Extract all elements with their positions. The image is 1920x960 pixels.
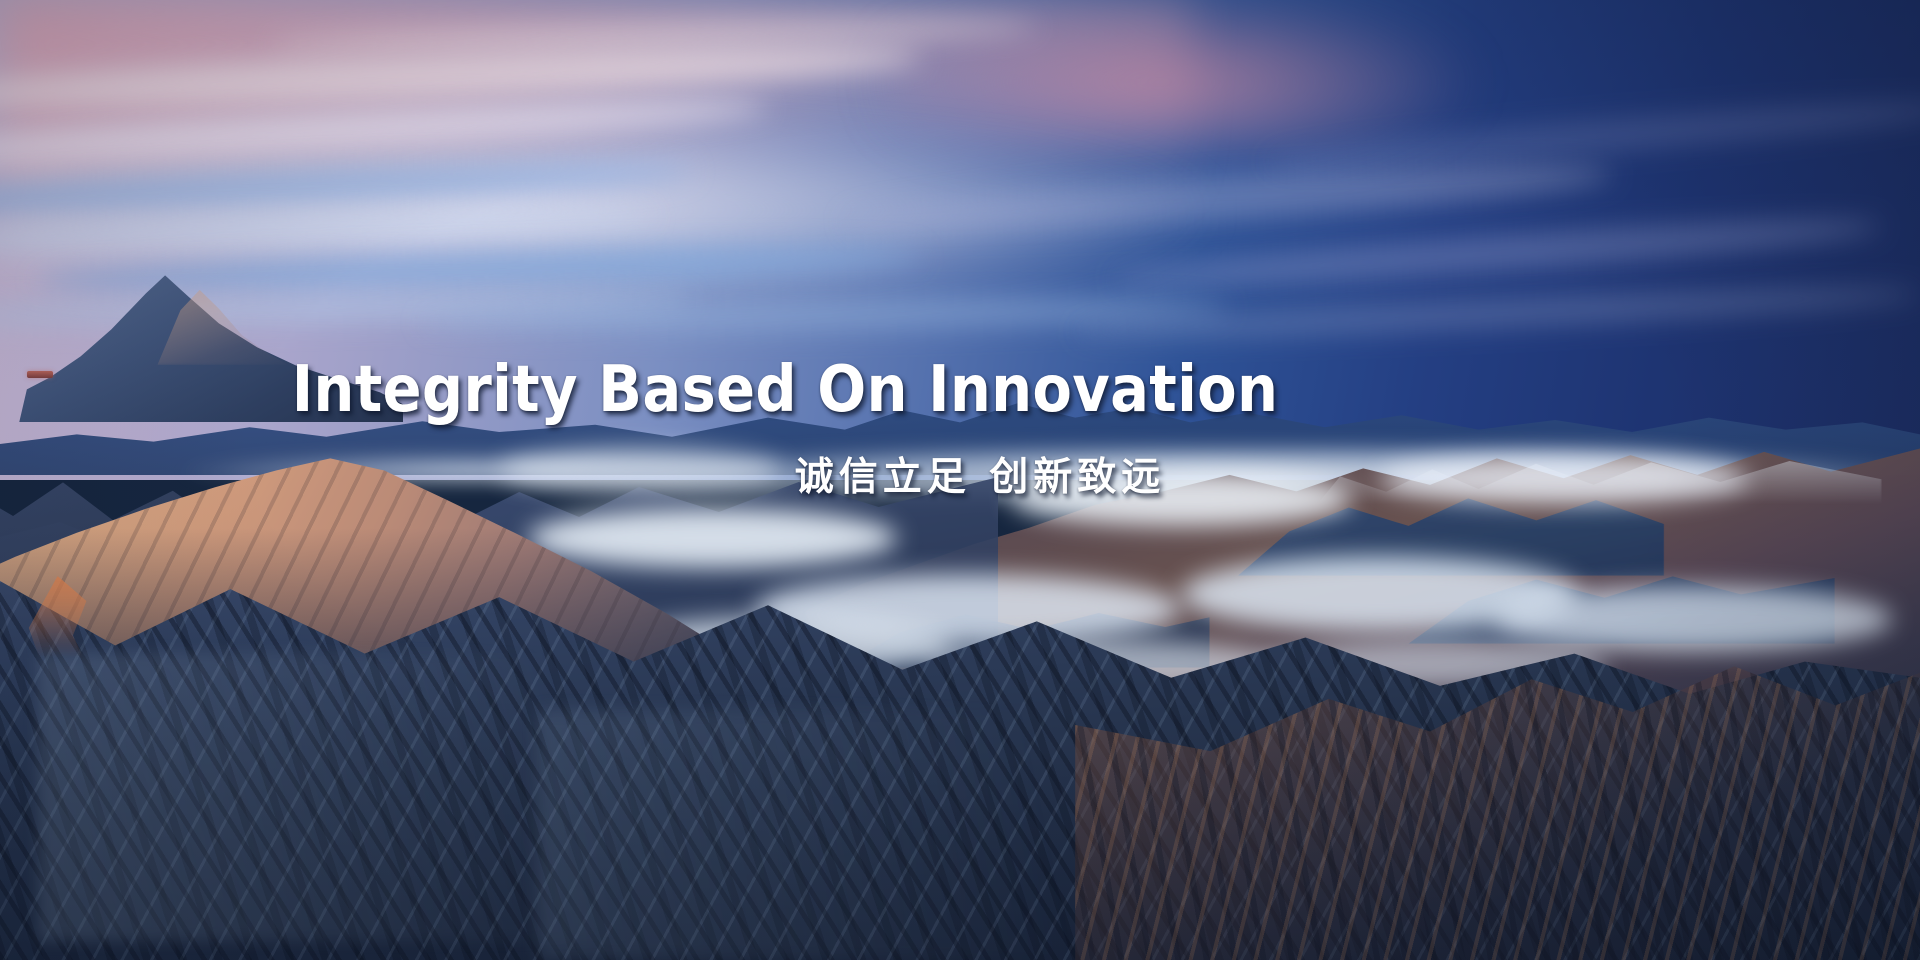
sky-haze [0,120,1344,300]
hero-banner: Integrity Based On Innovation 诚信立足 创新致远 [0,0,1920,960]
mountain-hut [27,371,53,378]
